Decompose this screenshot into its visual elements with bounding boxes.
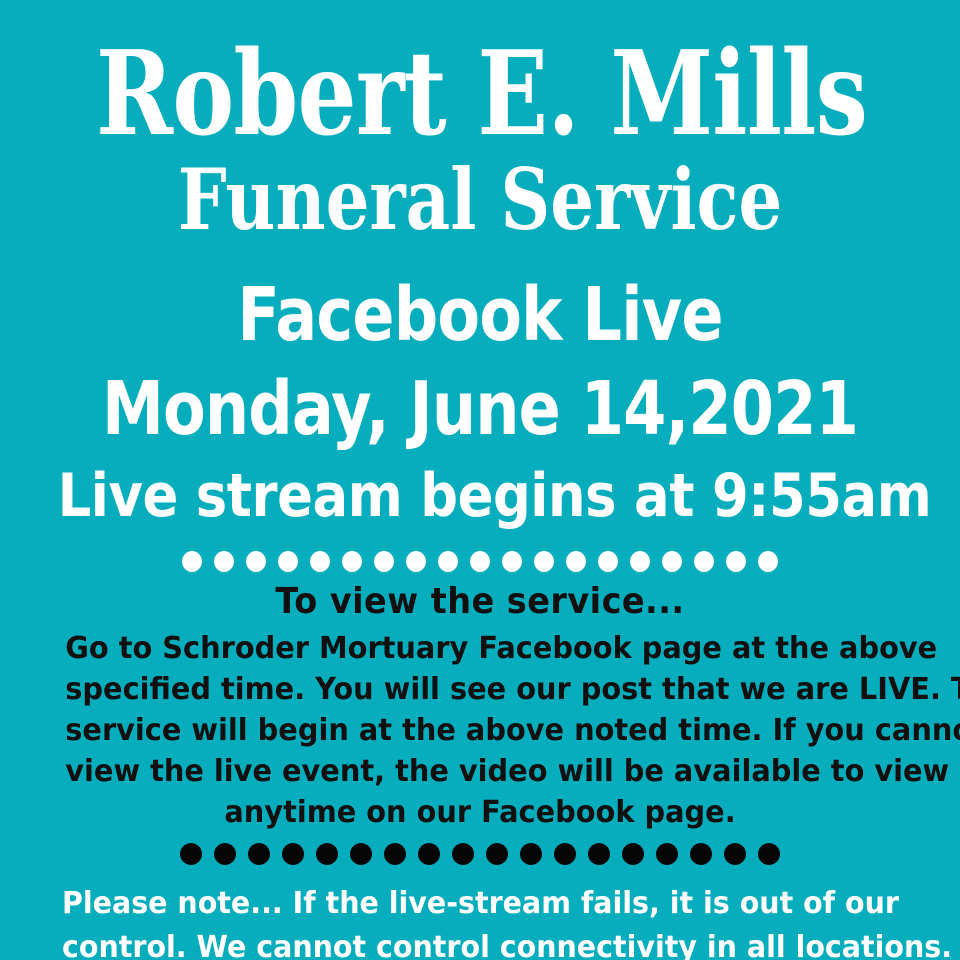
instructions-line: view the live event, the video will be a…	[65, 751, 894, 792]
instructions-line: anytime on our Facebook page.	[65, 792, 894, 833]
divider-top-dot	[182, 551, 202, 572]
divider-top-dot	[214, 551, 234, 572]
divider-top-dot	[630, 551, 650, 572]
divider-bottom-dot	[282, 843, 304, 865]
divider-bottom-dot	[758, 843, 780, 865]
service-type-heading: Funeral Service	[86, 158, 873, 242]
service-date-label: Monday, June 14,2021	[77, 372, 883, 446]
divider-bottom-dot	[316, 843, 338, 865]
divider-bottom-dot	[690, 843, 712, 865]
divider-top-dot	[438, 551, 458, 572]
divider-top-dot	[694, 551, 714, 572]
divider-top-dot	[662, 551, 682, 572]
divider-top-dot	[374, 551, 394, 572]
divider-bottom-dot	[622, 843, 644, 865]
note-line: Please note... If the live-stream fails,…	[62, 882, 898, 926]
divider-bottom-dot	[350, 843, 372, 865]
divider-bottom-dot	[554, 843, 576, 865]
instructions-line: specified time. You will see our post th…	[65, 669, 894, 710]
divider-top-dot	[598, 551, 618, 572]
divider-top-dot	[566, 551, 586, 572]
divider-top-dot	[502, 551, 522, 572]
streaming-platform-label: Facebook Live	[77, 278, 883, 352]
divider-bottom-dot	[384, 843, 406, 865]
dot-divider-bottom	[0, 843, 960, 865]
divider-bottom-dot	[248, 843, 270, 865]
funeral-service-announcement-poster: Robert E. Mills Funeral Service Facebook…	[0, 0, 960, 960]
divider-bottom-dot	[214, 843, 236, 865]
disclaimer-note-paragraph: Please note... If the live-stream fails,…	[40, 882, 920, 960]
divider-top-dot	[278, 551, 298, 572]
stream-start-time-label: Live stream begins at 9:55am	[58, 466, 903, 526]
divider-top-dot	[726, 551, 746, 572]
instructions-paragraph: Go to Schroder Mortuary Facebook page at…	[48, 628, 912, 833]
divider-top-dot	[470, 551, 490, 572]
divider-bottom-dot	[724, 843, 746, 865]
divider-bottom-dot	[180, 843, 202, 865]
divider-bottom-dot	[418, 843, 440, 865]
divider-top-dot	[406, 551, 426, 572]
divider-bottom-dot	[520, 843, 542, 865]
divider-top-dot	[310, 551, 330, 572]
divider-top-dot	[534, 551, 554, 572]
note-line: control. We cannot control connectivity …	[62, 926, 898, 960]
divider-top-dot	[342, 551, 362, 572]
divider-top-dot	[246, 551, 266, 572]
divider-bottom-dot	[452, 843, 474, 865]
instructions-line: Go to Schroder Mortuary Facebook page at…	[65, 628, 894, 669]
deceased-name-heading: Robert E. Mills	[96, 36, 864, 152]
instructions-line: service will begin at the above noted ti…	[65, 710, 894, 751]
instructions-heading: To view the service...	[34, 584, 927, 620]
divider-bottom-dot	[656, 843, 678, 865]
divider-bottom-dot	[486, 843, 508, 865]
dot-divider-top	[0, 551, 960, 572]
divider-top-dot	[758, 551, 778, 572]
divider-bottom-dot	[588, 843, 610, 865]
